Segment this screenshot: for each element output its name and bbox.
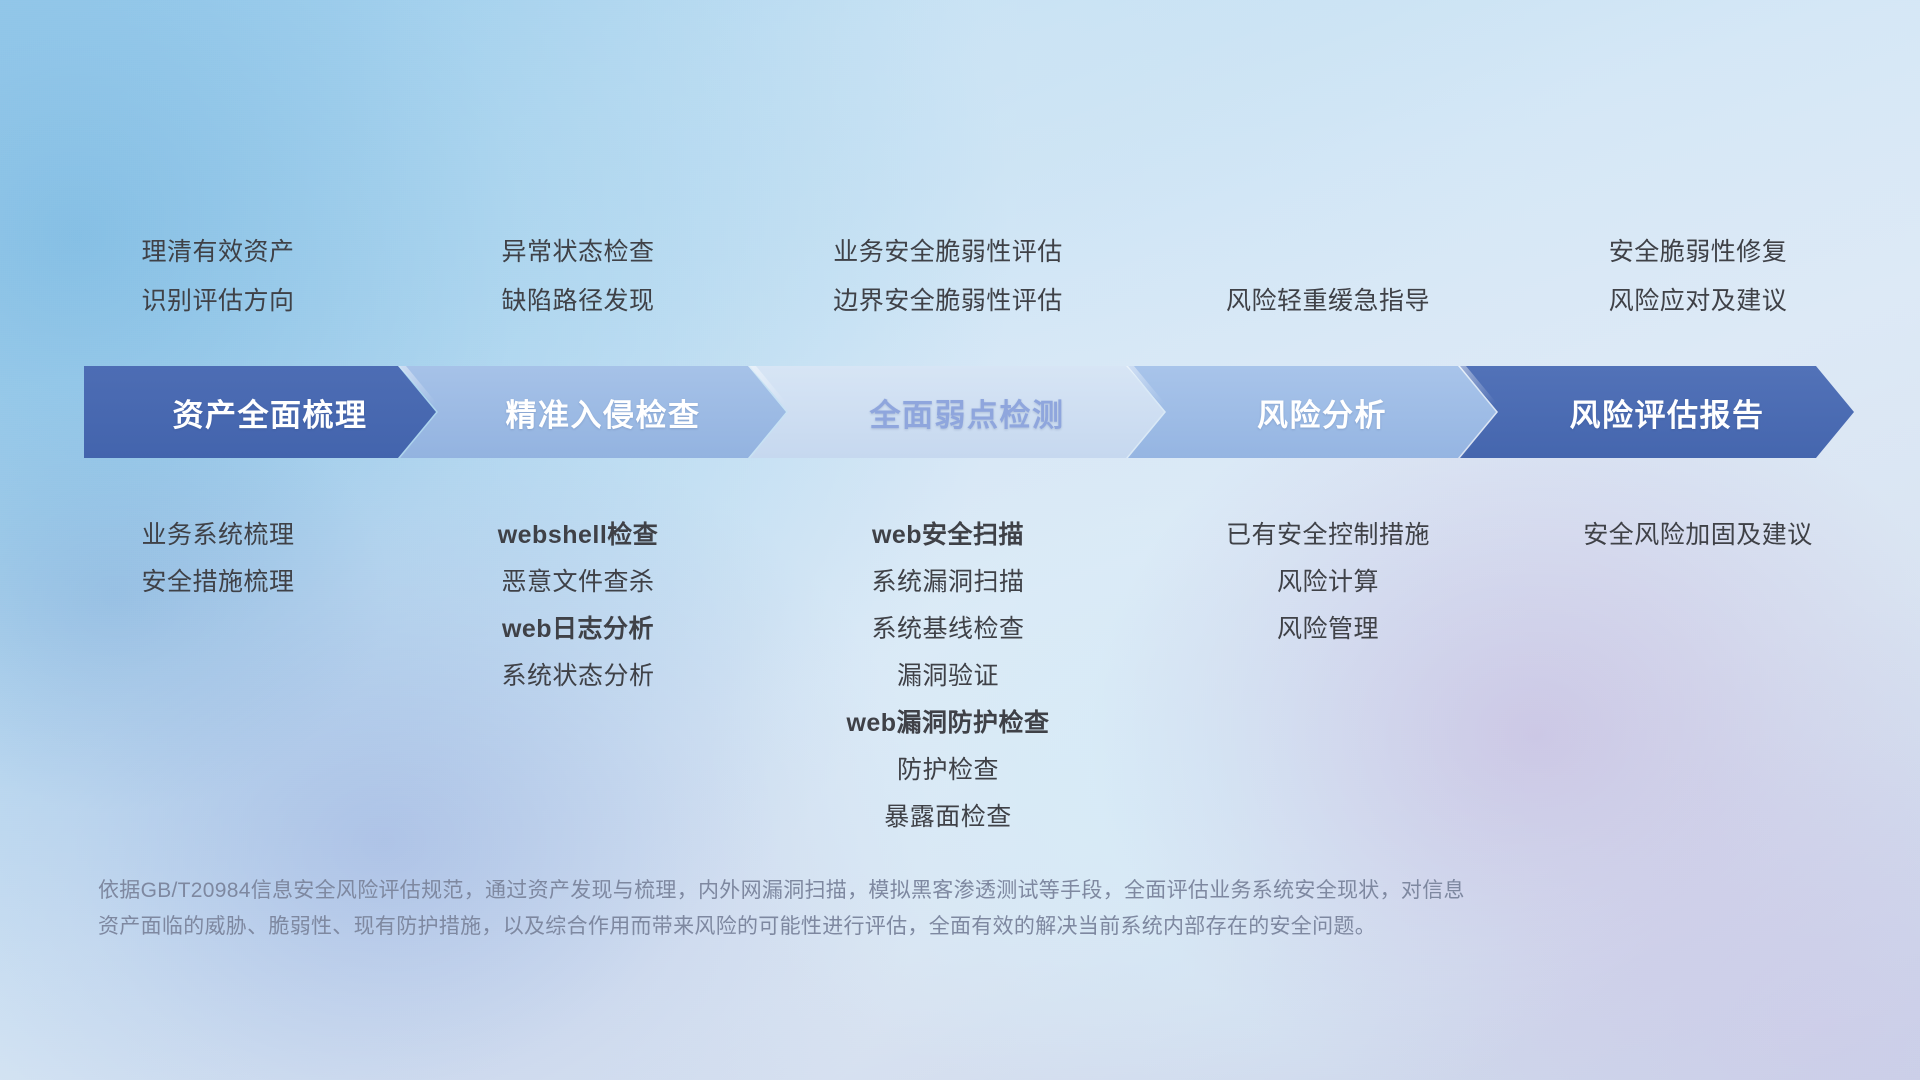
bottom-list-item: webshell检查	[498, 512, 659, 559]
top-caption-line: 风险轻重缓急指导	[1226, 277, 1430, 326]
bottom-list-item: 系统漏洞扫描	[871, 559, 1024, 606]
stage-top-captions: 理清有效资产 识别评估方向 异常状态检查 缺陷路径发现 业务安全脆弱性评估 边界…	[0, 228, 1920, 326]
top-caption-risk-report: 安全脆弱性修复 风险应对及建议	[1508, 228, 1888, 326]
bottom-list-item: 暴露面检查	[884, 794, 1012, 841]
bottom-list-risk-report: 安全风险加固及建议	[1508, 512, 1888, 841]
slide-canvas: 理清有效资产 识别评估方向 异常状态检查 缺陷路径发现 业务安全脆弱性评估 边界…	[0, 0, 1920, 1080]
bottom-list-item: 已有安全控制措施	[1226, 512, 1430, 559]
stage-bottom-lists: 业务系统梳理 安全措施梳理 webshell检查 恶意文件查杀 web日志分析 …	[0, 512, 1920, 841]
bottom-list-item: 安全措施梳理	[141, 559, 294, 606]
stage-arrow-label: 全面弱点检测	[850, 390, 1065, 435]
bottom-list-item: 系统状态分析	[501, 653, 654, 700]
bottom-list-item: 防护检查	[897, 747, 999, 794]
stage-arrow-asset-inventory[interactable]: 资产全面梳理	[84, 366, 436, 458]
footer-line-2: 资产面临的威胁、脆弱性、现有防护措施，以及综合作用而带来风险的可能性进行评估，全…	[98, 909, 1738, 945]
bottom-list-item: 漏洞验证	[897, 653, 999, 700]
bottom-list-item: 风险管理	[1277, 606, 1379, 653]
top-caption-asset-inventory: 理清有效资产 识别评估方向	[28, 228, 408, 326]
bottom-list-item: 系统基线检查	[871, 606, 1024, 653]
top-caption-line: 业务安全脆弱性评估	[833, 228, 1063, 277]
bottom-list-asset-inventory: 业务系统梳理 安全措施梳理	[28, 512, 408, 841]
bottom-list-item: web漏洞防护检查	[846, 700, 1049, 747]
top-caption-line: 异常状态检查	[501, 228, 654, 277]
bottom-list-item: 业务系统梳理	[141, 512, 294, 559]
top-caption-line: 识别评估方向	[141, 277, 294, 326]
top-caption-line: 安全脆弱性修复	[1609, 228, 1788, 277]
bottom-list-weakness-detection: web安全扫描 系统漏洞扫描 系统基线检查 漏洞验证 web漏洞防护检查 防护检…	[748, 512, 1148, 841]
stage-arrow-label: 资产全面梳理	[153, 390, 368, 435]
top-caption-weakness-detection: 业务安全脆弱性评估 边界安全脆弱性评估	[748, 228, 1148, 326]
footer-line-1: 依据GB/T20984信息安全风险评估规范，通过资产发现与梳理，内外网漏洞扫描，…	[98, 873, 1738, 909]
bottom-list-risk-analysis: 已有安全控制措施 风险计算 风险管理	[1148, 512, 1508, 841]
bottom-list-item: 风险计算	[1277, 559, 1379, 606]
bottom-list-item: web日志分析	[502, 606, 654, 653]
stage-arrow-label: 风险评估报告	[1550, 390, 1765, 435]
top-caption-line: 风险应对及建议	[1609, 277, 1788, 326]
top-caption-line: 缺陷路径发现	[501, 277, 654, 326]
bottom-list-item: web安全扫描	[872, 512, 1024, 559]
bottom-list-intrusion-check: webshell检查 恶意文件查杀 web日志分析 系统状态分析	[408, 512, 748, 841]
stage-arrow-label: 风险分析	[1237, 390, 1387, 435]
stage-arrow-intrusion-check[interactable]: 精准入侵检查	[400, 366, 786, 458]
bottom-list-item: 恶意文件查杀	[501, 559, 654, 606]
top-caption-risk-analysis: 风险轻重缓急指导	[1148, 228, 1508, 326]
stage-arrow-label: 精准入侵检查	[486, 390, 701, 435]
stage-arrow-risk-analysis[interactable]: 风险分析	[1128, 366, 1496, 458]
top-caption-line: 边界安全脆弱性评估	[833, 277, 1063, 326]
footer-description: 依据GB/T20984信息安全风险评估规范，通过资产发现与梳理，内外网漏洞扫描，…	[98, 873, 1738, 945]
bottom-list-item: 安全风险加固及建议	[1583, 512, 1813, 559]
top-caption-intrusion-check: 异常状态检查 缺陷路径发现	[408, 228, 748, 326]
top-caption-line: 理清有效资产	[141, 228, 294, 277]
stage-arrow-risk-report[interactable]: 风险评估报告	[1460, 366, 1854, 458]
process-arrow-band: 资产全面梳理 精准入侵检查 全面弱点检测 风险分析 风险评估报告	[84, 366, 1854, 458]
stage-arrow-weakness-detection[interactable]: 全面弱点检测	[750, 366, 1164, 458]
